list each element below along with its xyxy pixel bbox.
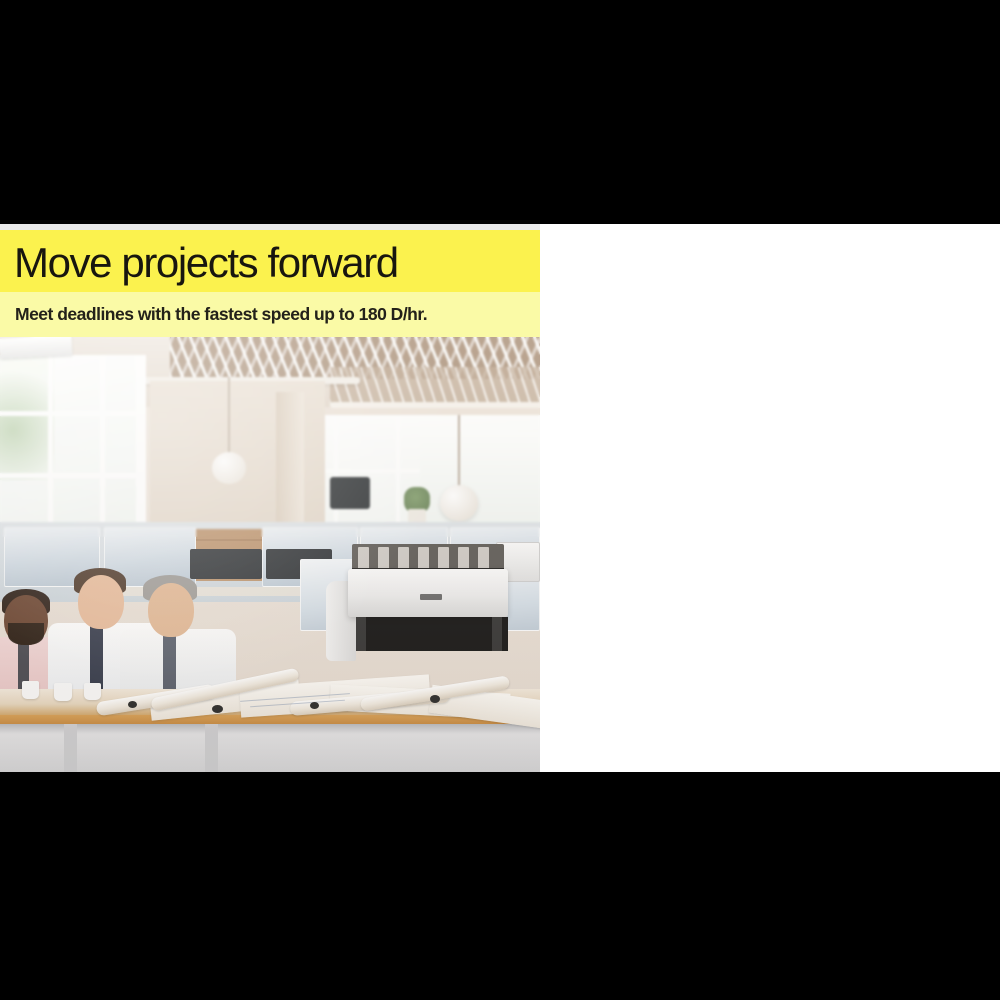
desk-object — [128, 701, 137, 708]
pendant-lamp-1 — [440, 485, 478, 521]
person-right-head — [148, 583, 194, 637]
ceiling-truss-secondary — [330, 367, 540, 405]
pendant-lamp-2 — [212, 452, 246, 484]
wall-display — [330, 477, 370, 509]
computer-monitor — [190, 549, 262, 579]
promo-tile: Move projects forward Meet deadlines wit… — [0, 224, 540, 772]
promo-subheadline: Meet deadlines with the fastest speed up… — [15, 302, 427, 326]
coffee-cup — [84, 683, 101, 700]
printer-body — [348, 569, 508, 617]
person-right-tie — [163, 632, 176, 694]
desk-shadow — [0, 724, 540, 734]
screenshot-stage: Move projects forward Meet deadlines wit… — [0, 0, 1000, 1000]
rack-slot — [398, 547, 409, 569]
pendant-lamp-cord-2 — [228, 377, 230, 455]
rack-slot — [458, 547, 469, 569]
headline-band: Move projects forward — [0, 230, 540, 292]
desk-object — [212, 705, 223, 713]
rack-slot — [418, 547, 429, 569]
office-photo — [0, 337, 540, 772]
person-left-beard — [8, 623, 44, 645]
desk-object — [430, 695, 440, 703]
printer-leg — [492, 617, 502, 651]
coffee-cup — [22, 681, 39, 699]
window-foliage — [0, 355, 54, 480]
open-document — [0, 337, 72, 359]
rack-slot — [358, 547, 369, 569]
desk-leg — [64, 724, 77, 772]
subheadline-band: Meet deadlines with the fastest speed up… — [0, 292, 540, 337]
wall-column — [276, 392, 304, 532]
coffee-cup — [54, 683, 72, 701]
rack-slot — [478, 547, 489, 569]
printer-logo — [420, 594, 442, 600]
person-center-head — [78, 575, 124, 629]
promo-headline: Move projects forward — [14, 239, 398, 287]
pendant-lamp-cord-1 — [458, 415, 460, 487]
desk-object — [310, 702, 319, 709]
printer-under-shadow — [352, 617, 508, 651]
printer-leg — [356, 617, 366, 651]
rack-slot — [378, 547, 389, 569]
desk-leg — [205, 724, 218, 772]
rack-slot — [438, 547, 449, 569]
ceiling-beam-secondary — [330, 402, 540, 408]
